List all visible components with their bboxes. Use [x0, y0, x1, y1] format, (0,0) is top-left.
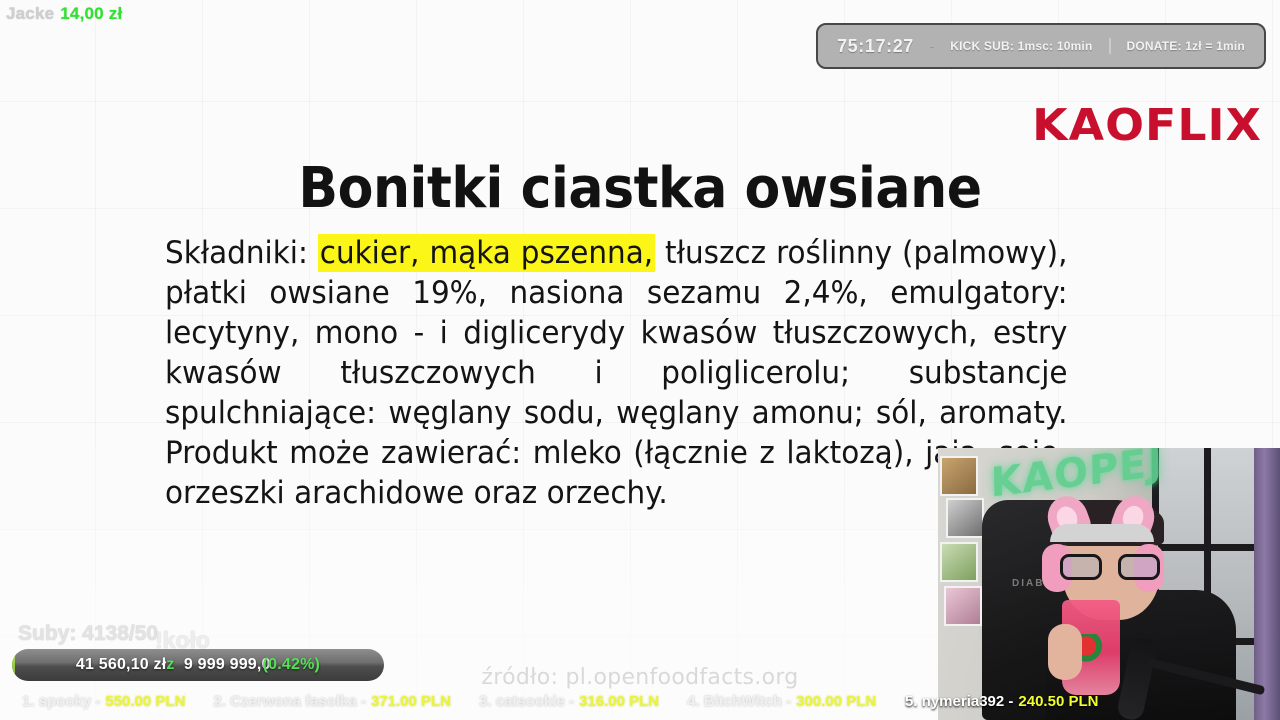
- donation-goal-label: 41 560,10 złz 9 999 999,0(0.42%): [76, 656, 320, 674]
- goal-connector: z: [166, 656, 174, 673]
- kick-sub-rule: KICK SUB: 1msc: 10min: [950, 39, 1092, 53]
- ingredients-paragraph: Składniki: cukier, mąka pszenna, tłuszcz…: [165, 233, 1068, 513]
- donor-entry: 4. BitchWitch - 300.00 PLN: [687, 693, 876, 710]
- donor-amount: 300.00 PLN: [796, 693, 876, 710]
- highlighted-ingredients: cukier, mąka pszenna,: [318, 234, 655, 272]
- timer-dash: -: [930, 39, 934, 54]
- stream-timer-bar: 75:17:27 - KICK SUB: 1msc: 10min DONATE:…: [816, 23, 1266, 69]
- donor-amount: 240.50 PLN: [1018, 693, 1098, 710]
- donation-goal-bar: 41 560,10 złz 9 999 999,0(0.42%): [12, 649, 384, 681]
- streamer-hand: [1048, 624, 1082, 680]
- donation-goal-fill: [12, 649, 15, 681]
- countdown-clock: 75:17:27: [837, 36, 914, 57]
- donor-name: Jacke: [6, 4, 54, 24]
- goal-percent: (0.42%): [263, 656, 320, 673]
- goal-target-amount: 9 999 999,0: [184, 656, 271, 673]
- subs-counter: Suby: 4138/50: [18, 622, 158, 646]
- donor-rank-name: 2. Czerwona fasolka -: [213, 693, 366, 710]
- donor-amount: 371.00 PLN: [371, 693, 451, 710]
- donor-amount: 316.00 PLN: [579, 693, 659, 710]
- eyeglasses: [1060, 554, 1160, 580]
- kaoflix-logo: KAOFLIX: [1032, 100, 1262, 151]
- donor-entry: 3. catsookie - 316.00 PLN: [479, 693, 659, 710]
- ingredients-rest: tłuszcz roślinny (palmowy), płatki owsia…: [165, 235, 1068, 511]
- donor-rank-name: 5. nymeria392 -: [905, 693, 1013, 710]
- wall-photos: [938, 454, 982, 644]
- timer-separator-icon: [1109, 38, 1111, 54]
- donor-entry: 2. Czerwona fasolka - 371.00 PLN: [213, 693, 451, 710]
- webcam-curtain: [1254, 448, 1280, 720]
- donation-alert: Jacke 14,00 zł: [6, 4, 122, 24]
- donor-entry: 1. spooky - 550.00 PLN: [22, 693, 185, 710]
- page-title: Bonitki ciastka owsiane: [184, 160, 1095, 219]
- donor-rank-name: 3. catsookie -: [479, 693, 574, 710]
- donation-amount: 14,00 zł: [60, 4, 122, 24]
- headphone-band: [1050, 524, 1154, 542]
- webcam-overlay: KAOPEJ DIABLO: [938, 448, 1280, 720]
- donor-entry: 5. nymeria392 - 240.50 PLN: [905, 693, 1098, 710]
- donor-amount: 550.00 PLN: [105, 693, 185, 710]
- goal-current-amount: 41 560,10 zł: [76, 656, 166, 673]
- donor-rank-name: 1. spooky -: [22, 693, 100, 710]
- donate-rule: DONATE: 1zł = 1min: [1127, 39, 1245, 53]
- ingredients-label: Składniki:: [165, 235, 308, 271]
- donor-rank-name: 4. BitchWitch -: [687, 693, 791, 710]
